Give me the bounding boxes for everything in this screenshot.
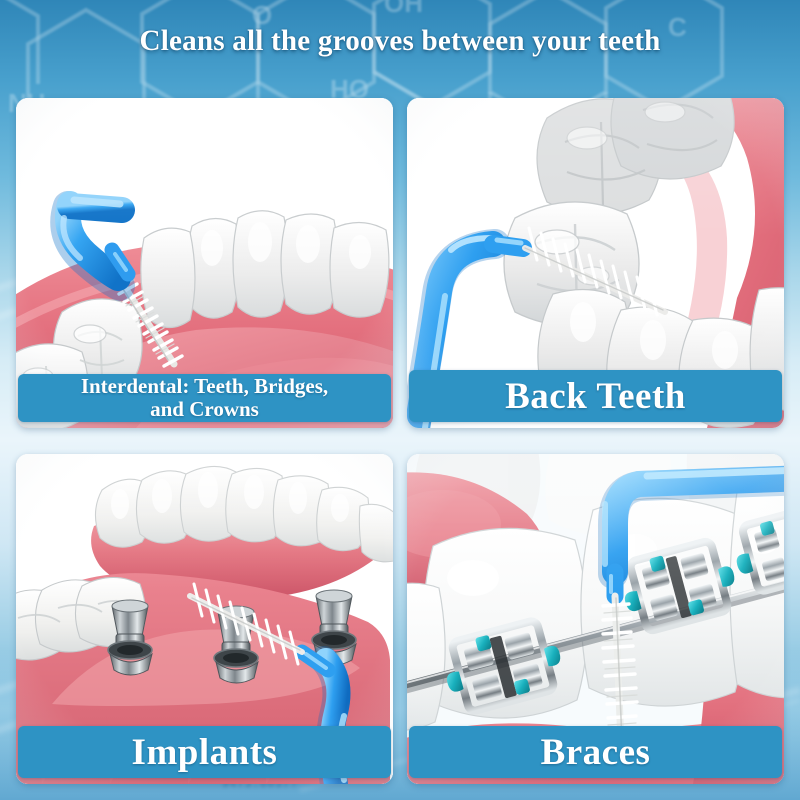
panel-implants[interactable]: Implants: [16, 454, 393, 784]
feature-panel-grid: Interdental: Teeth, Bridges, and Crowns: [16, 98, 784, 784]
caption-back-teeth: Back Teeth: [409, 370, 782, 422]
product-infographic: OH O C NH HO 5463.7817 0272.7988 9473.80…: [0, 0, 800, 800]
panel-braces[interactable]: Braces: [407, 454, 784, 784]
caption-braces: Braces: [409, 726, 782, 778]
caption-line-2: and Crowns: [81, 398, 328, 421]
panel-back-teeth[interactable]: Back Teeth: [407, 98, 784, 428]
caption-implants: Implants: [18, 726, 391, 778]
panel-interdental[interactable]: Interdental: Teeth, Bridges, and Crowns: [16, 98, 393, 428]
page-title: Cleans all the grooves between your teet…: [12, 24, 788, 58]
caption-interdental: Interdental: Teeth, Bridges, and Crowns: [18, 374, 391, 422]
caption-line-1: Interdental: Teeth, Bridges,: [81, 375, 328, 398]
svg-text:OH: OH: [384, 0, 423, 18]
